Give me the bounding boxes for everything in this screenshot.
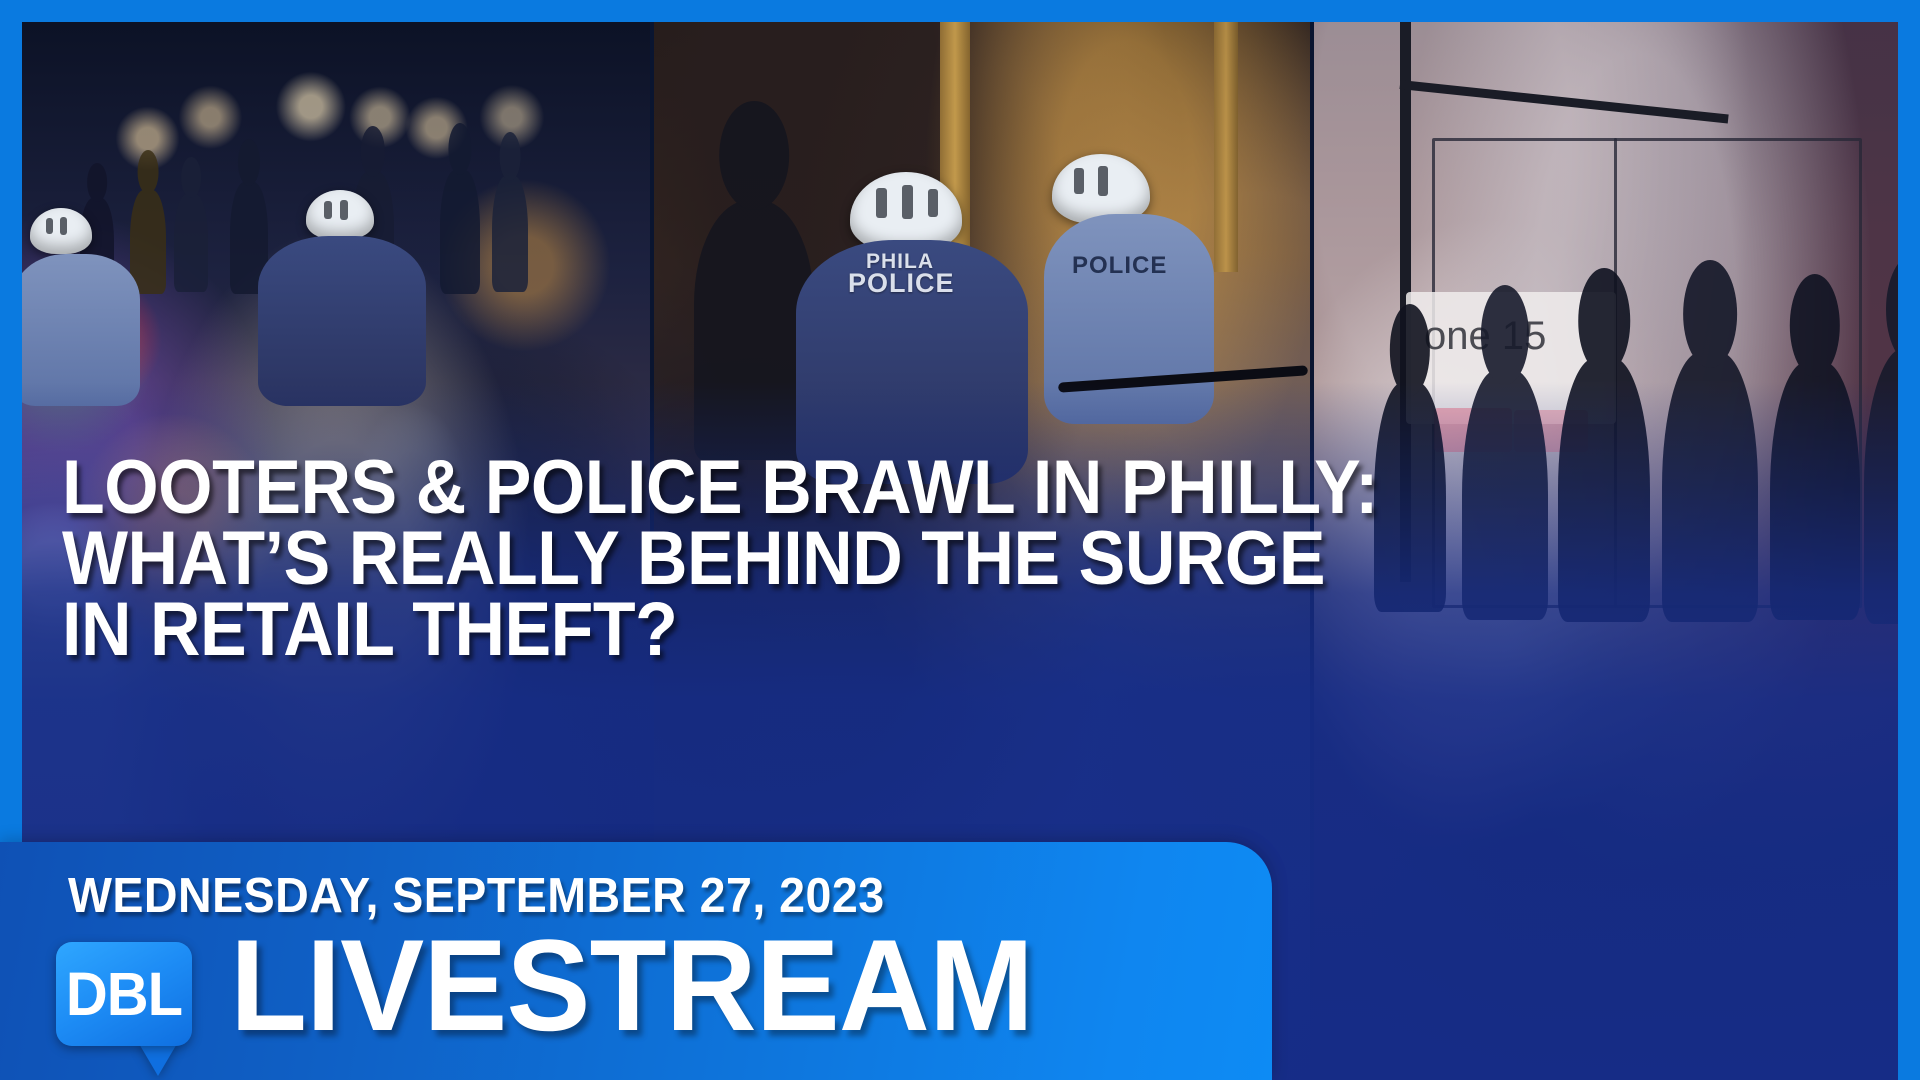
police-jacket-text-police: POLICE [848, 268, 955, 299]
pedestrian-silhouette [492, 176, 528, 292]
headline-text: LOOTERS & POLICE BRAWL IN PHILLY: WHAT’S… [62, 452, 1709, 665]
bottom-banner: WEDNESDAY, SEPTEMBER 27, 2023 DBL LIVEST… [0, 842, 1272, 1080]
speech-bubble-tail-icon [138, 1042, 178, 1076]
pedestrian-silhouette [440, 170, 480, 294]
police-uniform-torso [1044, 214, 1214, 424]
pedestrian-silhouette [174, 194, 208, 292]
storefront-column [1214, 22, 1238, 272]
dbl-logo[interactable]: DBL [56, 942, 192, 1046]
video-thumbnail: PHILA POLICE POLICE one 15 [0, 0, 1920, 1080]
livestream-label: LIVESTREAM [230, 920, 1033, 1050]
police-uniform-torso [22, 254, 140, 406]
bike-helmet-icon [30, 208, 92, 254]
police-uniform-torso [258, 236, 426, 406]
police-jacket-text-right: POLICE [1072, 252, 1167, 280]
crowd-silhouette [1770, 362, 1860, 620]
pedestrian-silhouette [130, 190, 166, 294]
dbl-logo-text: DBL [59, 942, 188, 1046]
